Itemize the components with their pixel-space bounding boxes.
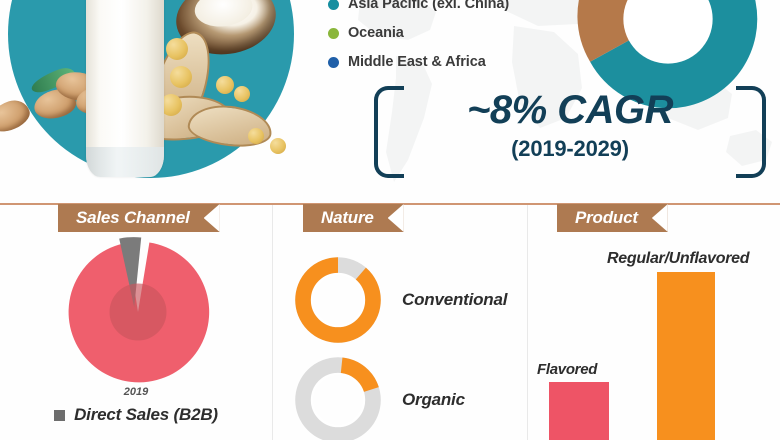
sales-channel-pie-chart	[62, 236, 214, 388]
bar-flavored	[549, 382, 609, 440]
legend-item-label: Middle East & Africa	[348, 54, 486, 70]
banner-notch-icon	[652, 204, 668, 232]
milk-glass-graphic	[86, 0, 164, 177]
cagr-callout: ~8% CAGR (2019-2029)	[370, 84, 770, 176]
legend-item-label: Asia Pacific (exl. China)	[348, 0, 509, 12]
bar-regular-unflavored	[657, 272, 715, 440]
soybean-graphic	[166, 38, 188, 60]
section-banner-nature: Nature	[303, 204, 404, 232]
legend-item-oceania: Oceania	[328, 23, 558, 43]
sales-channel-year-label: 2019	[0, 386, 272, 398]
soybean-graphic	[170, 66, 192, 88]
nature-label-organic: Organic	[402, 390, 465, 410]
legend-item-middle-east-africa: Middle East & Africa	[328, 52, 558, 72]
legend-item-asia-pacific: Asia Pacific (exl. China)	[328, 0, 558, 14]
banner-label: Nature	[321, 208, 374, 228]
legend-dot-icon	[328, 0, 339, 10]
nature-item-organic: Organic	[272, 350, 527, 440]
bar-label-regular-unflavored: Regular/Unflavored	[607, 250, 749, 268]
conventional-ring-gauge	[292, 254, 384, 346]
sales-channel-panel: 2019 Direct Sales (B2B)	[0, 232, 272, 440]
product-panel: Flavored Regular/Unflavored	[527, 232, 780, 440]
bar-label-flavored: Flavored	[537, 361, 597, 378]
section-banner-product: Product	[557, 204, 668, 232]
cagr-value: ~8% CAGR	[370, 90, 770, 130]
banner-label: Sales Channel	[76, 208, 190, 228]
legend-label-direct-sales: Direct Sales (B2B)	[74, 405, 218, 425]
banner-label: Product	[575, 208, 638, 228]
section-banner-sales-channel: Sales Channel	[58, 204, 220, 232]
nature-label-conventional: Conventional	[402, 290, 507, 310]
product-hero-image	[0, 0, 330, 190]
top-section: Asia Pacific (exl. China) Oceania Middle…	[0, 0, 780, 203]
region-legend: Asia Pacific (exl. China) Oceania Middle…	[328, 0, 558, 81]
gauge-inner-ring	[312, 374, 364, 426]
legend-dot-icon	[328, 57, 339, 68]
legend-square-icon	[54, 410, 65, 421]
soybean-graphic	[248, 128, 264, 144]
cagr-period: (2019-2029)	[370, 136, 770, 162]
soybean-graphic	[270, 138, 286, 154]
nature-item-conventional: Conventional	[272, 250, 527, 350]
nature-panel: Conventional Organic	[272, 232, 527, 440]
legend-item-label: Oceania	[348, 25, 404, 41]
gauge-inner-ring	[312, 274, 364, 326]
legend-dot-icon	[328, 28, 339, 39]
organic-ring-gauge	[292, 354, 384, 440]
soybean-graphic	[216, 76, 234, 94]
pie-inner-disc	[110, 284, 167, 341]
soybean-graphic	[234, 86, 250, 102]
banner-notch-icon	[388, 204, 404, 232]
banner-notch-icon	[204, 204, 220, 232]
infographic-page: Asia Pacific (exl. China) Oceania Middle…	[0, 0, 780, 440]
sales-channel-legend: Direct Sales (B2B)	[0, 405, 272, 425]
